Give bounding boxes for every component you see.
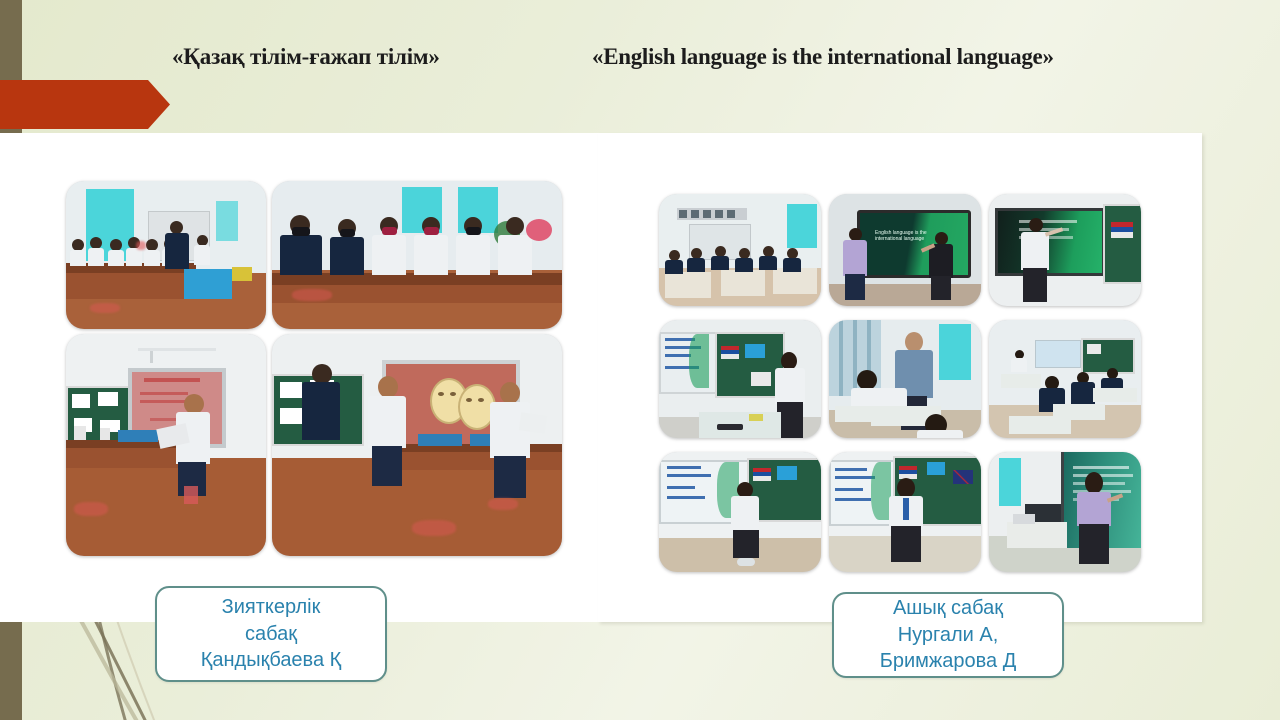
photo-teacher-pointing-at-board <box>989 452 1141 572</box>
caption-right-line-3: Бримжарова Д <box>880 648 1017 674</box>
screen-caption: English language is the international la… <box>875 230 939 243</box>
photo-students-with-theatre-masks <box>272 334 562 556</box>
photo-girl-at-chalkboard-with-flags <box>829 452 981 572</box>
photo-teachers-at-presentation-screen: English language is the international la… <box>829 194 981 306</box>
caption-right-line-2: Нургали А, <box>898 622 999 648</box>
photo-student-writing-on-whiteboard <box>989 194 1141 306</box>
photo-student-by-chalkboard <box>659 320 821 438</box>
caption-left-line-3: Қандықбаева Қ <box>201 647 342 673</box>
photo-teacher-talking-to-student <box>829 320 981 438</box>
slide-canvas: «Қазақ тілім-ғажап тілім» «English langu… <box>0 0 1280 720</box>
open-lesson-caption: Ашық сабақ Нургали А, Бримжарова Д <box>832 592 1064 678</box>
page-title-kazakh: «Қазақ тілім-ғажап тілім» <box>172 44 440 70</box>
intellectual-lesson-caption: Зияткерлік сабақ Қандықбаева Қ <box>155 586 387 682</box>
caption-right-line-1: Ашық сабақ <box>893 595 1003 621</box>
photo-classroom-full-of-students <box>659 194 821 306</box>
page-title-english: «English language is the international l… <box>592 44 1054 70</box>
photo-teacher-presenting-at-screen <box>66 334 266 556</box>
photo-students-in-masks-seated <box>272 181 562 329</box>
photo-girl-presenting-beside-whiteboard <box>659 452 821 572</box>
slide-header: «Қазақ тілім-ғажап тілім» «English langu… <box>0 44 1280 84</box>
accent-arrow-banner <box>0 80 170 129</box>
photo-wide-classroom-view <box>989 320 1141 438</box>
caption-left-line-2: сабақ <box>245 621 297 647</box>
photo-classroom-students-at-desks <box>66 181 266 329</box>
caption-left-line-1: Зияткерлік <box>222 594 321 620</box>
